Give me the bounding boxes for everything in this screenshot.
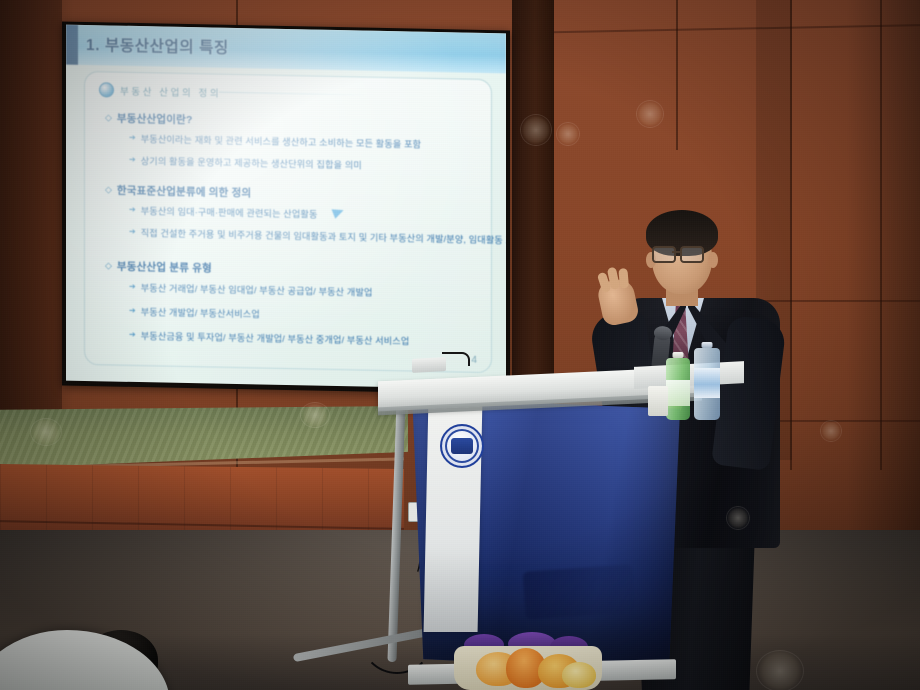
diamond-bullet-icon: ◇: [105, 182, 112, 196]
bottle-label: [694, 368, 720, 398]
slide-heading: ◇ 한국표준산업분류에 의한 정의: [105, 182, 251, 200]
slide-content-area: 부동산 산업의 정의 ◇ 부동산산업이란? ➔ 부동산이라는 재화 및 관련 서…: [84, 71, 492, 373]
slide-heading: ◇ 부동산산업 분류 유형: [105, 258, 212, 275]
eyeglasses-bridge: [672, 251, 682, 253]
green-tea-bottle: [666, 358, 690, 420]
wall-seam: [880, 0, 882, 470]
slide-number: 4: [471, 355, 477, 366]
slide-bullet: ➔ 부동산의 임대·구매·판매에 관련되는 산업활동: [129, 203, 317, 221]
slide-bullet: ➔ 부동산 개발업/ 부동산서비스업: [129, 304, 260, 321]
slide-section-tag-label: 부동산 산업의 정의: [120, 83, 221, 99]
slide-bullet: ➔ 부동산금융 및 투자업/ 부동산 개발업/ 부동산 중개업/ 부동산 서비스…: [129, 328, 409, 348]
lectern-cable: [442, 352, 470, 366]
diamond-bullet-icon: ◇: [105, 110, 112, 124]
eyeglasses-lens: [680, 246, 704, 263]
bottle-cap: [673, 352, 684, 358]
wall-shadow: [0, 0, 62, 430]
slide-bullet: ➔ 부동산이라는 재화 및 관련 서비스를 생산하고 소비하는 모든 활동을 포…: [129, 131, 421, 151]
bullet-marker-icon: [99, 82, 114, 97]
arrow-bullet-icon: ➔: [129, 225, 136, 238]
slide-bullet: ➔ 직접 건설한 주거용 및 비주거용 건물의 임대활동과 토지 및 기타 부동…: [129, 225, 506, 247]
slide-section-tag: 부동산 산업의 정의: [99, 82, 221, 99]
lectern-equipment-box: [412, 357, 446, 373]
institution-seal-icon: [440, 424, 484, 468]
wall-seam: [676, 0, 678, 150]
finger: [618, 268, 629, 289]
slide-heading: ◇ 부동산산업이란?: [105, 110, 193, 127]
flower-petal: [562, 662, 596, 688]
arrow-bullet-icon: ➔: [129, 280, 136, 293]
arrow-bullet-icon: ➔: [129, 304, 136, 317]
paper-cup: [648, 386, 668, 416]
eyeglasses-lens: [652, 246, 676, 263]
arrow-bullet-icon: ➔: [129, 328, 136, 341]
arrow-bullet-icon: ➔: [129, 203, 136, 216]
slide-header-band: 1. 부동산산업의 특징: [66, 25, 506, 74]
bottle-cap: [702, 342, 713, 348]
arrow-bullet-icon: ➔: [129, 131, 136, 144]
arrow-bullet-icon: ➔: [129, 153, 136, 166]
slide-bullet: ➔ 상기의 활동을 운영하고 제공하는 생산단위의 집합을 의미: [129, 153, 362, 172]
slide-pointer-arrow-icon: [332, 205, 346, 218]
projection-screen: 1. 부동산산업의 특징 부동산 산업의 정의 ◇ 부동산산업이란? ➔ 부동산: [62, 22, 510, 395]
slide-title: 1. 부동산산업의 특징: [86, 33, 229, 58]
slide-bullet: ➔ 부동산 거래업/ 부동산 임대업/ 부동산 공급업/ 부동산 개발업: [129, 280, 373, 299]
presentation-photo: 1. 부동산산업의 특징 부동산 산업의 정의 ◇ 부동산산업이란? ➔ 부동산: [0, 0, 920, 690]
lectern: [404, 398, 680, 670]
bottle-label: [666, 380, 690, 406]
flower-bouquet: [446, 632, 610, 690]
ear: [708, 252, 718, 268]
water-bottle: [694, 348, 720, 420]
diamond-bullet-icon: ◇: [105, 258, 112, 272]
lectern-marking: [522, 564, 635, 620]
